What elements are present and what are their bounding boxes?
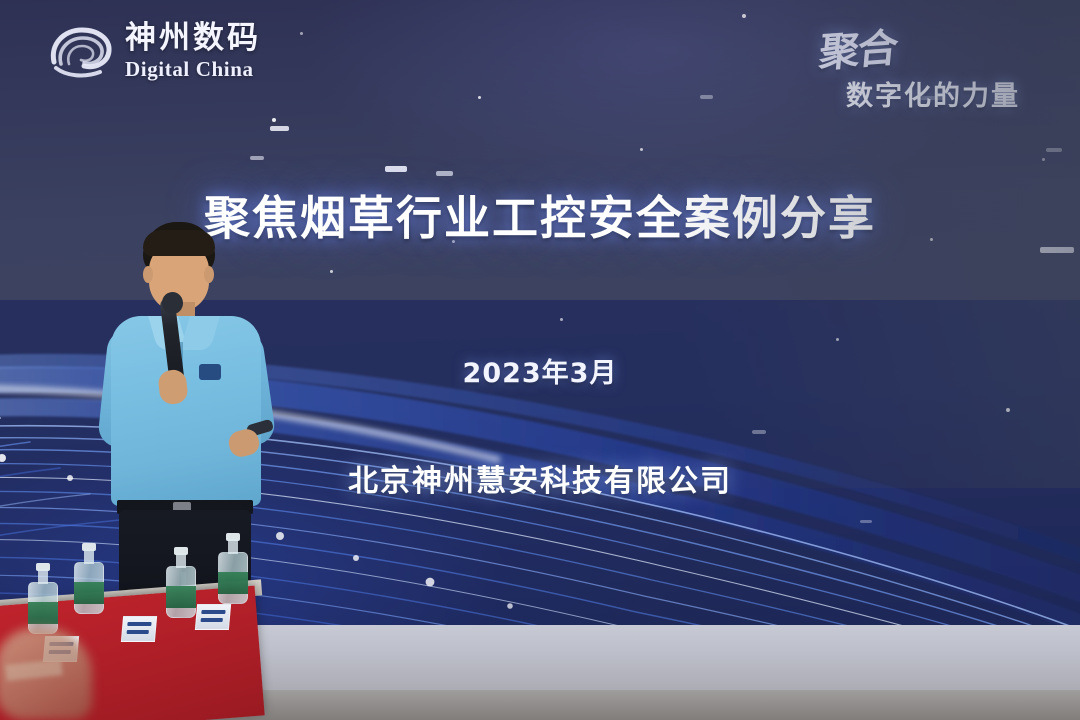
speaker-ear-left [143,266,153,283]
water-bottle [166,566,196,618]
bottle-body [74,562,104,614]
bottle-body [28,582,58,634]
event-tagline: 数字化的力量 [846,74,1020,113]
bottle-neck [84,549,94,564]
water-bottle [218,552,248,604]
brand-name-en: Digital China [125,59,261,80]
stage-photo: 神州数码 Digital China 聚合 数字化的力量 聚焦烟草行业工控安全案… [0,0,1080,720]
event-calligraphy: 聚合 [817,15,899,78]
bottle-neck [38,569,48,584]
speaker-fringe [143,230,215,256]
name-card [121,616,157,642]
name-card [195,604,231,630]
speaker-ear-right [204,266,214,283]
bottle-label [28,602,58,624]
bottle-neck [228,539,238,554]
digital-china-swirl-icon [48,22,114,80]
bottle-label [218,572,248,594]
brand-name-cn: 神州数码 [125,23,261,54]
foreground-attendee-blur [0,628,92,720]
bottle-body [166,566,196,618]
bottle-neck [176,553,186,568]
speaker-chest-logo-icon [199,364,221,380]
bottle-body [218,552,248,604]
bottle-label [74,582,104,604]
digital-china-logo: 神州数码 Digital China [48,22,261,80]
event-brand-lockup: 聚合 数字化的力量 [802,18,1052,114]
water-bottle [28,582,58,634]
bottle-label [166,586,196,608]
water-bottle [74,562,104,614]
